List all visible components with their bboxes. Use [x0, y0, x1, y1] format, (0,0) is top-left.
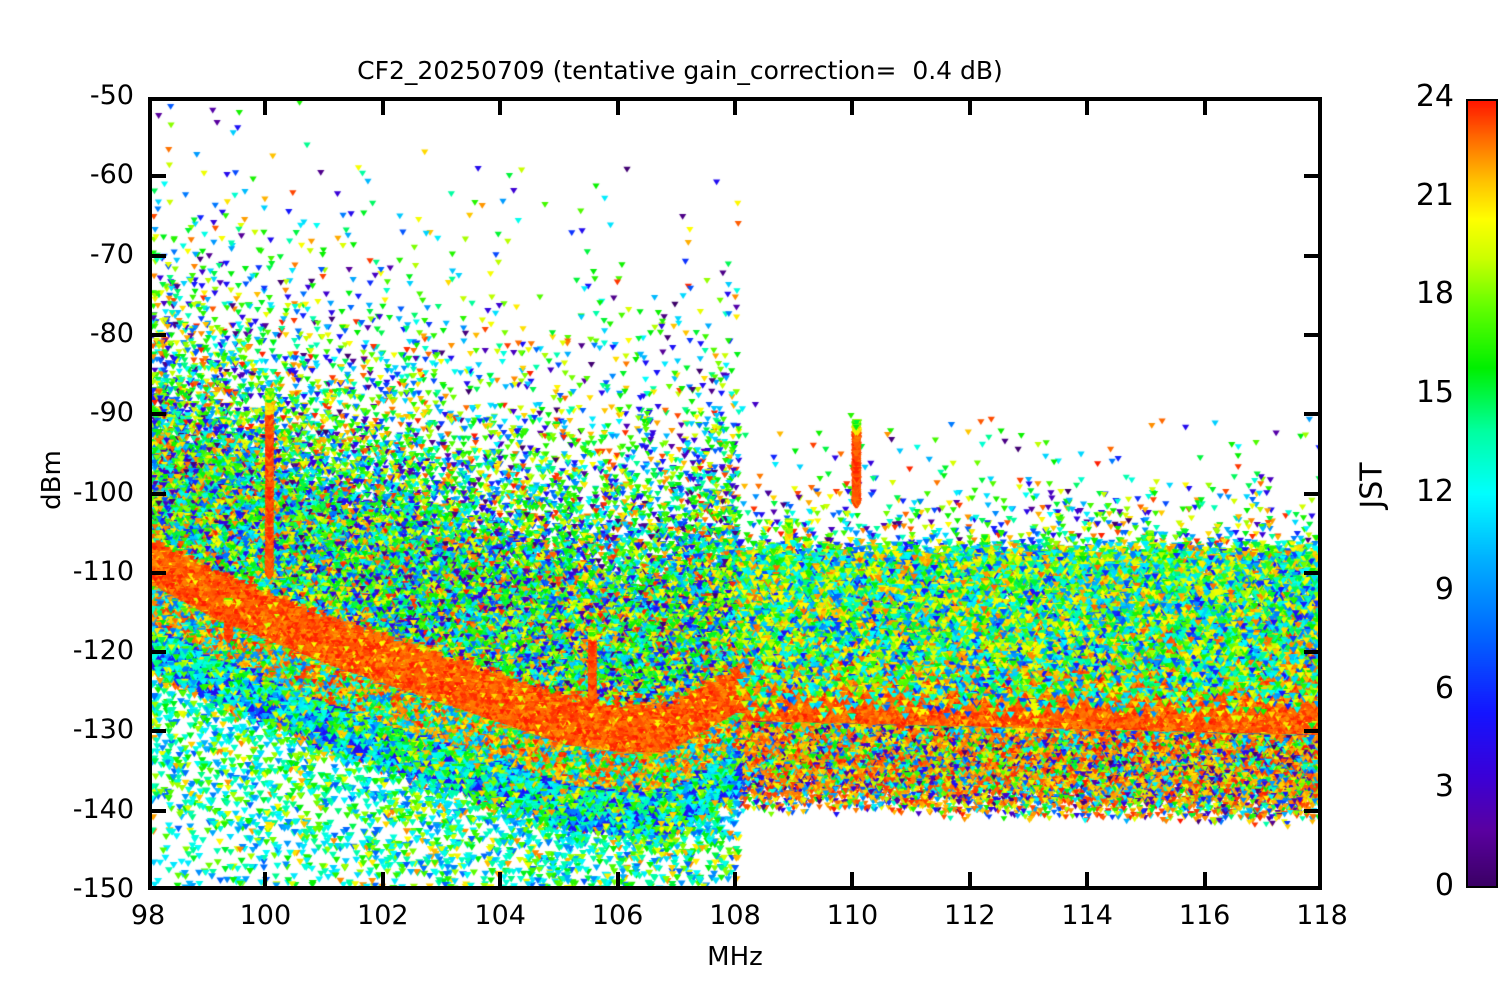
y-tick-left [150, 650, 166, 654]
y-tick-left [150, 174, 166, 178]
y-axis-label: dBm [37, 420, 67, 540]
colorbar-tick-label: 15 [1394, 375, 1454, 410]
x-tick-label: 108 [695, 900, 775, 931]
colorbar-tick-label: 24 [1394, 79, 1454, 114]
y-tick-left [150, 254, 166, 258]
x-axis-label: MHz [0, 942, 1470, 972]
y-tick-label: -50 [24, 80, 134, 111]
x-tick-bottom [616, 872, 620, 888]
y-tick-right [1304, 254, 1320, 258]
y-tick-right [1304, 492, 1320, 496]
x-tick-top [498, 99, 502, 115]
colorbar-tick-label: 9 [1394, 572, 1454, 607]
x-tick-bottom [1203, 872, 1207, 888]
x-tick-label: 100 [225, 900, 305, 931]
colorbar [1466, 99, 1498, 888]
y-tick-left [150, 729, 166, 733]
y-tick-left [150, 333, 166, 337]
x-tick-bottom [1085, 872, 1089, 888]
colorbar-tick-label: 6 [1394, 671, 1454, 706]
x-tick-bottom [381, 872, 385, 888]
y-tick-label: -80 [24, 318, 134, 349]
y-tick-label: -60 [24, 159, 134, 190]
x-tick-top [1085, 99, 1089, 115]
x-tick-top [968, 99, 972, 115]
x-tick-label: 98 [108, 900, 188, 931]
colorbar-tick-label: 21 [1394, 178, 1454, 213]
x-tick-bottom [850, 872, 854, 888]
colorbar-label: JST [1355, 426, 1390, 546]
x-tick-label: 110 [812, 900, 892, 931]
x-tick-label: 106 [578, 900, 658, 931]
x-tick-top [616, 99, 620, 115]
x-tick-bottom [498, 872, 502, 888]
colorbar-tick-label: 18 [1394, 276, 1454, 311]
y-tick-label: -130 [24, 714, 134, 745]
y-tick-label: -110 [24, 556, 134, 587]
y-tick-right [1304, 333, 1320, 337]
y-tick-right [1304, 412, 1320, 416]
spectrum-plot-page: CF2_20250709 (tentative gain_correction=… [0, 0, 1500, 1000]
spectrum-scatter-canvas [152, 101, 1322, 890]
x-tick-label: 104 [460, 900, 540, 931]
x-tick-bottom [968, 872, 972, 888]
x-tick-label: 114 [1047, 900, 1127, 931]
y-tick-right [1304, 650, 1320, 654]
y-tick-right [1304, 809, 1320, 813]
y-tick-left [150, 571, 166, 575]
y-tick-right [1304, 729, 1320, 733]
y-tick-left [150, 809, 166, 813]
chart-title: CF2_20250709 (tentative gain_correction=… [0, 56, 1360, 85]
x-tick-top [1203, 99, 1207, 115]
x-tick-bottom [263, 872, 267, 888]
y-tick-left [150, 412, 166, 416]
x-tick-label: 112 [930, 900, 1010, 931]
y-tick-label: -120 [24, 635, 134, 666]
y-tick-right [1304, 174, 1320, 178]
plot-area [148, 97, 1322, 890]
x-tick-label: 116 [1165, 900, 1245, 931]
y-tick-label: -140 [24, 794, 134, 825]
x-tick-top [733, 99, 737, 115]
x-tick-bottom [733, 872, 737, 888]
x-tick-top [381, 99, 385, 115]
y-tick-label: -150 [24, 873, 134, 904]
x-tick-top [263, 99, 267, 115]
colorbar-tick-label: 12 [1394, 474, 1454, 509]
colorbar-gradient [1468, 101, 1496, 886]
x-tick-label: 102 [343, 900, 423, 931]
y-tick-left [150, 492, 166, 496]
y-tick-right [1304, 571, 1320, 575]
x-tick-label: 118 [1282, 900, 1362, 931]
x-tick-top [850, 99, 854, 115]
y-tick-label: -70 [24, 239, 134, 270]
colorbar-tick-label: 3 [1394, 769, 1454, 804]
colorbar-tick-label: 0 [1394, 868, 1454, 903]
